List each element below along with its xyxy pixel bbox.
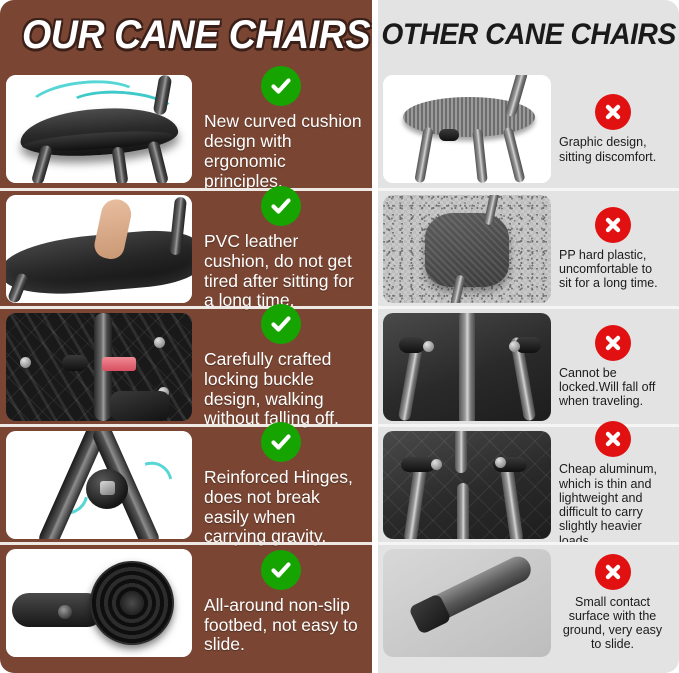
other-products-column: OTHER CANE CHAIRS Graphic: [378, 0, 679, 673]
cross-icon: [595, 421, 631, 457]
reinforced-x-hinge-photo: [6, 431, 192, 539]
other-row-4-content: Cheap aluminum, which is thin and lightw…: [551, 421, 674, 548]
flat-perforated-metal-seat-photo: [383, 75, 551, 183]
our-row-2-content: PVC leather cushion, do not get tired af…: [192, 186, 366, 312]
comparison-infographic: OUR CANE CHAIRS: [0, 0, 679, 673]
other-row-2-content: PP hard plastic, uncomfortable to sit fo…: [551, 207, 674, 291]
our-column-header: OUR CANE CHAIRS: [0, 0, 372, 70]
other-row-3-content: Cannot be locked.Will fall off when trav…: [551, 325, 674, 409]
other-column-rows: Graphic design, sitting discomfort. PP h…: [378, 70, 679, 660]
our-row-4: Reinforced Hinges, does not break easily…: [0, 424, 372, 542]
other-row-4: Cheap aluminum, which is thin and lightw…: [378, 424, 679, 542]
other-row-2-text: PP hard plastic, uncomfortable to sit fo…: [557, 248, 668, 291]
small-rubber-cane-tip-photo: [383, 549, 551, 657]
our-column-rows: New curved cushion design with ergonomic…: [0, 70, 372, 660]
our-row-2: PVC leather cushion, do not get tired af…: [0, 188, 372, 306]
our-row-3-content: Carefully crafted locking buckle design,…: [192, 304, 366, 430]
other-row-1: Graphic design, sitting discomfort.: [378, 70, 679, 188]
other-row-3: Cannot be locked.Will fall off when trav…: [378, 306, 679, 424]
our-row-1-text: New curved cushion design with ergonomic…: [200, 112, 362, 192]
our-row-5: All-around non-slip footbed, not easy to…: [0, 542, 372, 660]
cross-icon: [595, 207, 631, 243]
our-row-4-content: Reinforced Hinges, does not break easily…: [192, 422, 366, 548]
our-row-5-content: All-around non-slip footbed, not easy to…: [192, 550, 366, 656]
our-row-2-text: PVC leather cushion, do not get tired af…: [200, 232, 362, 312]
other-row-2: PP hard plastic, uncomfortable to sit fo…: [378, 188, 679, 306]
cross-icon: [595, 94, 631, 130]
our-row-3: Carefully crafted locking buckle design,…: [0, 306, 372, 424]
other-row-4-text: Cheap aluminum, which is thin and lightw…: [557, 462, 668, 548]
our-products-column: OUR CANE CHAIRS: [0, 0, 372, 673]
our-row-3-text: Carefully crafted locking buckle design,…: [200, 350, 362, 430]
check-icon: [261, 422, 301, 462]
other-row-1-text: Graphic design, sitting discomfort.: [557, 135, 668, 164]
check-icon: [261, 304, 301, 344]
our-row-1-content: New curved cushion design with ergonomic…: [192, 66, 366, 192]
our-column-title: OUR CANE CHAIRS: [22, 13, 370, 58]
other-row-5: Small contact surface with the ground, v…: [378, 542, 679, 660]
non-slip-footbed-pad-photo: [6, 549, 192, 657]
check-icon: [261, 186, 301, 226]
locking-buckle-mechanism-photo: [6, 313, 192, 421]
unlocked-frame-joint-photo: [383, 313, 551, 421]
our-row-1: New curved cushion design with ergonomic…: [0, 70, 372, 188]
our-row-4-text: Reinforced Hinges, does not break easily…: [200, 468, 362, 548]
other-row-5-text: Small contact surface with the ground, v…: [557, 595, 668, 652]
other-column-title: OTHER CANE CHAIRS: [381, 18, 675, 52]
pvc-leather-cushion-finger-press-photo: [6, 195, 192, 303]
other-row-5-content: Small contact surface with the ground, v…: [551, 554, 674, 652]
cross-icon: [595, 554, 631, 590]
check-icon: [261, 66, 301, 106]
other-row-1-content: Graphic design, sitting discomfort.: [551, 94, 674, 164]
thin-aluminum-hinge-photo: [383, 431, 551, 539]
cross-icon: [595, 325, 631, 361]
hard-plastic-seat-on-concrete-photo: [383, 195, 551, 303]
curved-cushion-seat-photo: [6, 75, 192, 183]
our-row-5-text: All-around non-slip footbed, not easy to…: [200, 596, 362, 656]
check-icon: [261, 550, 301, 590]
other-row-3-text: Cannot be locked.Will fall off when trav…: [557, 366, 668, 409]
other-column-header: OTHER CANE CHAIRS: [378, 0, 679, 70]
